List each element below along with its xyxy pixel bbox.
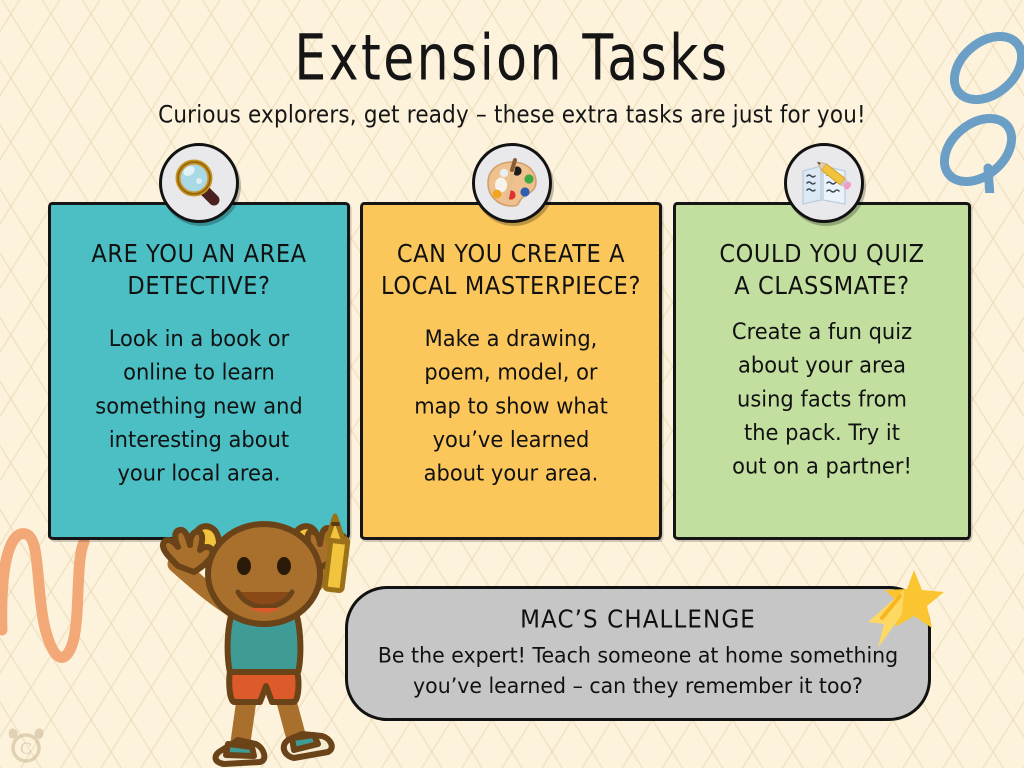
challenge-title: MAC’S CHALLENGE [520, 606, 756, 635]
page-subtitle: Curious explorers, get ready – these ext… [0, 101, 1024, 129]
challenge-body: Be the expert! Teach someone at home som… [378, 640, 898, 701]
card-body: Look in a book or online to learn someth… [95, 323, 302, 491]
task-card-area-detective[interactable]: ARE YOU AN AREA DETECTIVE? Look in a boo… [48, 202, 350, 540]
card-heading: COULD YOU QUIZ A CLASSMATE? [719, 239, 924, 303]
notepad-pencil-icon [784, 143, 864, 223]
mac-challenge-banner[interactable]: MAC’S CHALLENGE Be the expert! Teach som… [345, 586, 931, 721]
card-heading: CAN YOU CREATE A LOCAL MASTERPIECE? [381, 239, 641, 303]
card-body: Create a fun quiz about your area using … [732, 316, 912, 484]
card-body: Make a drawing, poem, model, or map to s… [414, 323, 608, 491]
artist-palette-icon [472, 143, 552, 223]
task-card-quiz-a-classmate[interactable]: COULD YOU QUIZ A CLASSMATE? Create a fun… [673, 202, 971, 540]
task-card-local-masterpiece[interactable]: CAN YOU CREATE A LOCAL MASTERPIECE? Make… [360, 202, 662, 540]
slide-canvas: Extension Tasks Curious explorers, get r… [0, 0, 1024, 768]
moose-mascot-mac [142, 500, 392, 768]
card-heading: ARE YOU AN AREA DETECTIVE? [91, 239, 306, 303]
page-title: Extension Tasks [15, 22, 1008, 95]
magnifying-glass-icon [159, 143, 239, 223]
copyright-antler-watermark: C [4, 722, 48, 764]
svg-text:C: C [20, 739, 32, 758]
